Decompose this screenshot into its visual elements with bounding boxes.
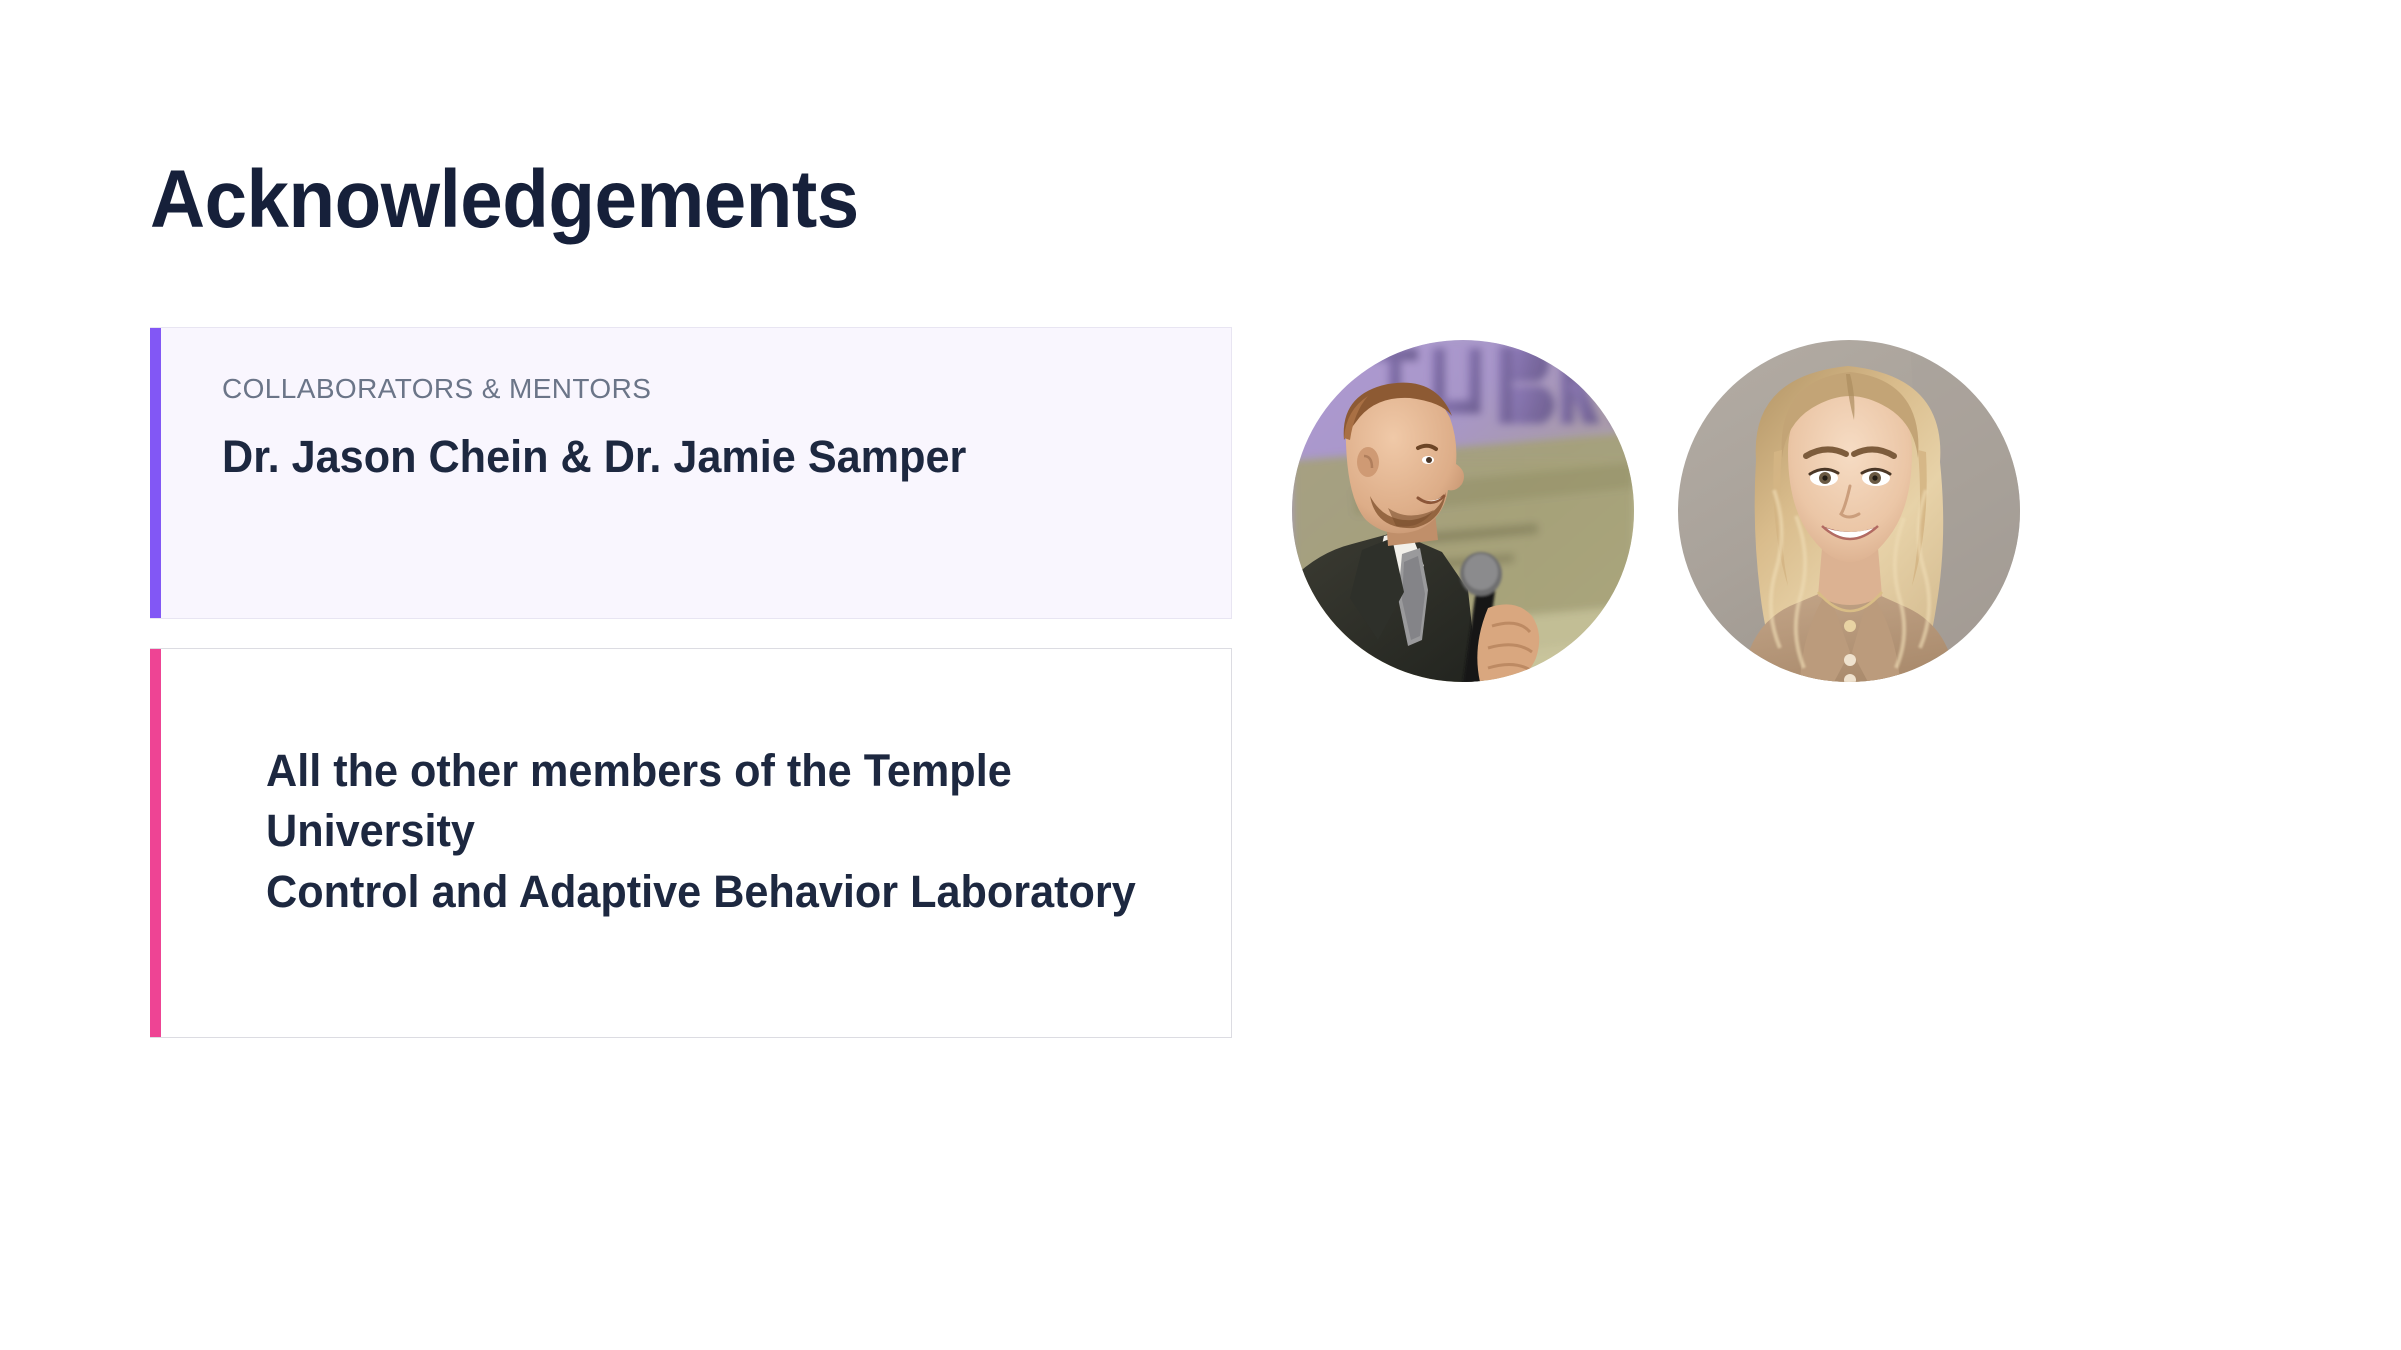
page-title: Acknowledgements [150,159,859,241]
photo-jamie-samper-image [1678,340,2020,682]
card-lab-members-body: All the other members of the Temple Univ… [150,649,1231,922]
card-collaborators-eyebrow: COLLABORATORS & MENTORS [222,372,1195,406]
photo-jason-chein [1292,340,1634,682]
card-lab-members: All the other members of the Temple Univ… [150,648,1232,1038]
photo-jamie-samper [1678,340,2020,682]
acknowledgement-cards: COLLABORATORS & MENTORS Dr. Jason Chein … [150,327,1232,1038]
card-collaborators: COLLABORATORS & MENTORS Dr. Jason Chein … [150,327,1232,619]
card-collaborators-names: Dr. Jason Chein & Dr. Jamie Samper [222,428,1009,486]
accent-bar-purple [150,328,161,618]
card-collaborators-body: COLLABORATORS & MENTORS Dr. Jason Chein … [150,328,1231,485]
photo-group [1292,340,2032,692]
card-spacer [150,619,1232,648]
slide-root: Acknowledgements COLLABORATORS & MENTORS… [0,0,2401,1350]
photo-jason-chein-image [1292,340,1634,682]
card-lab-members-text: All the other members of the Temple Univ… [266,741,1158,922]
accent-bar-pink [150,649,161,1037]
